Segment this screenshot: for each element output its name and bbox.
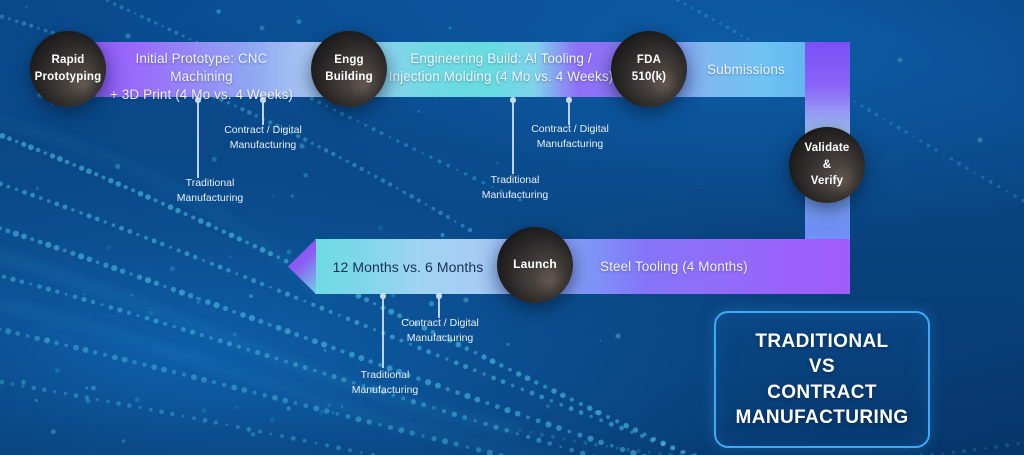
- node-rapid-prototyping-line1: Rapid: [35, 52, 102, 69]
- annotation-traditional-1: Traditional Manufacturing: [155, 176, 265, 206]
- label-submissions: Submissions: [690, 61, 802, 79]
- title-line-3: CONTRACT: [735, 380, 908, 405]
- node-launch-line1: Launch: [513, 256, 557, 273]
- label-engineering-build: Engineering Build: Al Tooling / Injectio…: [386, 50, 616, 86]
- node-validate-verify-line3: Verify: [804, 173, 849, 190]
- label-steel-tooling: Steel Tooling (4 Months): [600, 258, 790, 276]
- annotation-contract-3-line2: Manufacturing: [376, 331, 504, 346]
- title-text: TRADITIONAL VS CONTRACT MANUFACTURING: [735, 329, 908, 429]
- annotation-leader-line-contract-1: [262, 100, 264, 125]
- annotation-traditional-2-line2: Manufacturing: [460, 188, 570, 203]
- annotation-contract-3-line1: Contract / Digital: [376, 316, 504, 331]
- label-timeline-comparison: 12 Months vs. 6 Months: [328, 258, 488, 277]
- annotation-traditional-2: Traditional Manufacturing: [460, 173, 570, 203]
- node-engg-building-line1: Engg: [325, 52, 373, 69]
- label-initial-prototype-line2: + 3D Print (4 Mo vs. 4 Weeks): [104, 86, 299, 104]
- node-fda-510k-line1: FDA: [632, 52, 666, 69]
- node-engg-building-line2: Building: [325, 69, 373, 86]
- node-launch[interactable]: Launch: [497, 227, 573, 303]
- node-rapid-prototyping[interactable]: Rapid Prototyping: [30, 31, 106, 107]
- label-engineering-build-line2: Injection Molding (4 Mo vs. 4 Weeks): [386, 68, 616, 86]
- title-line-1: TRADITIONAL: [735, 329, 908, 354]
- node-validate-verify-line2: &: [804, 157, 849, 174]
- node-rapid-prototyping-line2: Prototyping: [35, 69, 102, 86]
- annotation-contract-2-line1: Contract / Digital: [506, 122, 634, 137]
- annotation-traditional-3-line1: Traditional: [330, 368, 440, 383]
- annotation-traditional-3: Traditional Manufacturing: [330, 368, 440, 398]
- title-box: TRADITIONAL VS CONTRACT MANUFACTURING: [714, 311, 930, 448]
- node-engg-building[interactable]: Engg Building: [311, 31, 387, 107]
- annotation-contract-1-line1: Contract / Digital: [199, 123, 327, 138]
- node-validate-verify-line1: Validate: [804, 140, 849, 157]
- label-initial-prototype: Initial Prototype: CNC Machining + 3D Pr…: [104, 50, 299, 105]
- annotation-leader-line-contract-3: [438, 296, 440, 318]
- annotation-contract-2: Contract / Digital Manufacturing: [506, 122, 634, 152]
- annotation-contract-2-line2: Manufacturing: [506, 137, 634, 152]
- label-initial-prototype-line1: Initial Prototype: CNC Machining: [104, 50, 299, 86]
- annotation-traditional-3-line2: Manufacturing: [330, 383, 440, 398]
- title-line-2: VS: [735, 354, 908, 379]
- node-fda-510k-line2: 510(k): [632, 69, 666, 86]
- infographic-canvas: Initial Prototype: CNC Machining + 3D Pr…: [0, 0, 1024, 455]
- node-validate-verify[interactable]: Validate & Verify: [789, 127, 865, 203]
- annotation-contract-3: Contract / Digital Manufacturing: [376, 316, 504, 346]
- label-engineering-build-line1: Engineering Build: Al Tooling /: [386, 50, 616, 68]
- title-line-4: MANUFACTURING: [735, 405, 908, 430]
- annotation-traditional-1-line2: Manufacturing: [155, 191, 265, 206]
- annotation-traditional-2-line1: Traditional: [460, 173, 570, 188]
- annotation-contract-1: Contract / Digital Manufacturing: [199, 123, 327, 153]
- node-fda-510k[interactable]: FDA 510(k): [611, 31, 687, 107]
- annotation-contract-1-line2: Manufacturing: [199, 138, 327, 153]
- annotation-traditional-1-line1: Traditional: [155, 176, 265, 191]
